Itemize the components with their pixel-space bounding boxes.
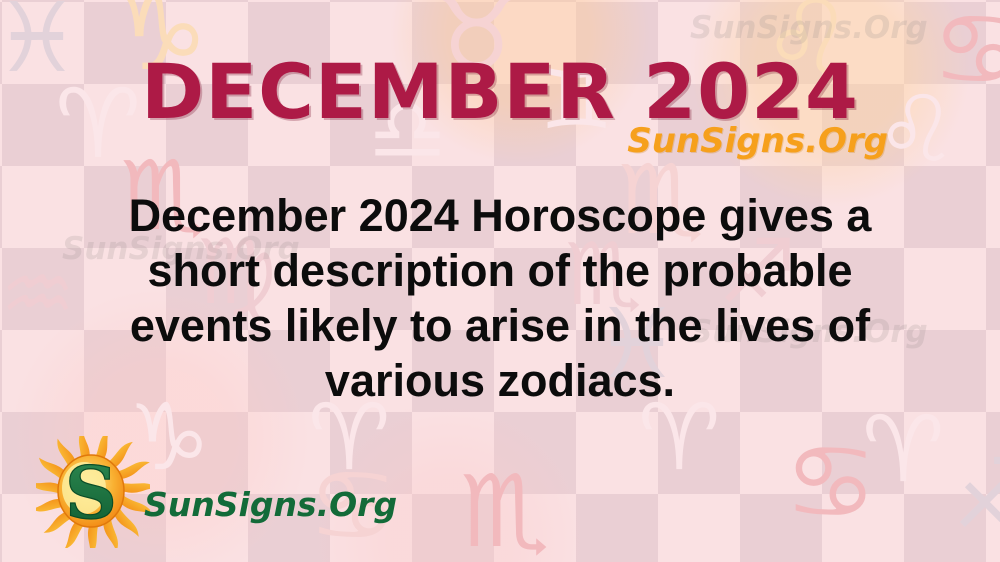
body-line-3: events likely to arise in the lives of xyxy=(30,298,970,353)
body-line-4: various zodiacs. xyxy=(30,353,970,408)
logo-text: SunSigns.Org xyxy=(144,488,397,521)
site-logo[interactable]: S SunSigns.Org xyxy=(36,436,397,548)
body-copy: December 2024 Horoscope gives a short de… xyxy=(30,188,970,408)
page-title: DECEMBER 2024 xyxy=(141,54,859,130)
body-line-2: short description of the probable xyxy=(30,243,970,298)
horoscope-banner: ♈ ♎ ♊ ♌ ♍ ♏ ♐ ♑ ♈ ♈ ♈ ♒ ♓ ♑ ♉ ♌ ♋ ♏ ♏ ♓ … xyxy=(0,0,1000,562)
watermark-3: SunSigns.Org xyxy=(690,10,928,46)
logo-letter-s: S xyxy=(65,450,117,535)
body-line-1: December 2024 Horoscope gives a xyxy=(30,188,970,243)
sun-logo-icon: S xyxy=(36,436,150,548)
title-brand-label: SunSigns.Org xyxy=(627,124,888,158)
title-row: DECEMBER 2024 xyxy=(0,54,1000,130)
